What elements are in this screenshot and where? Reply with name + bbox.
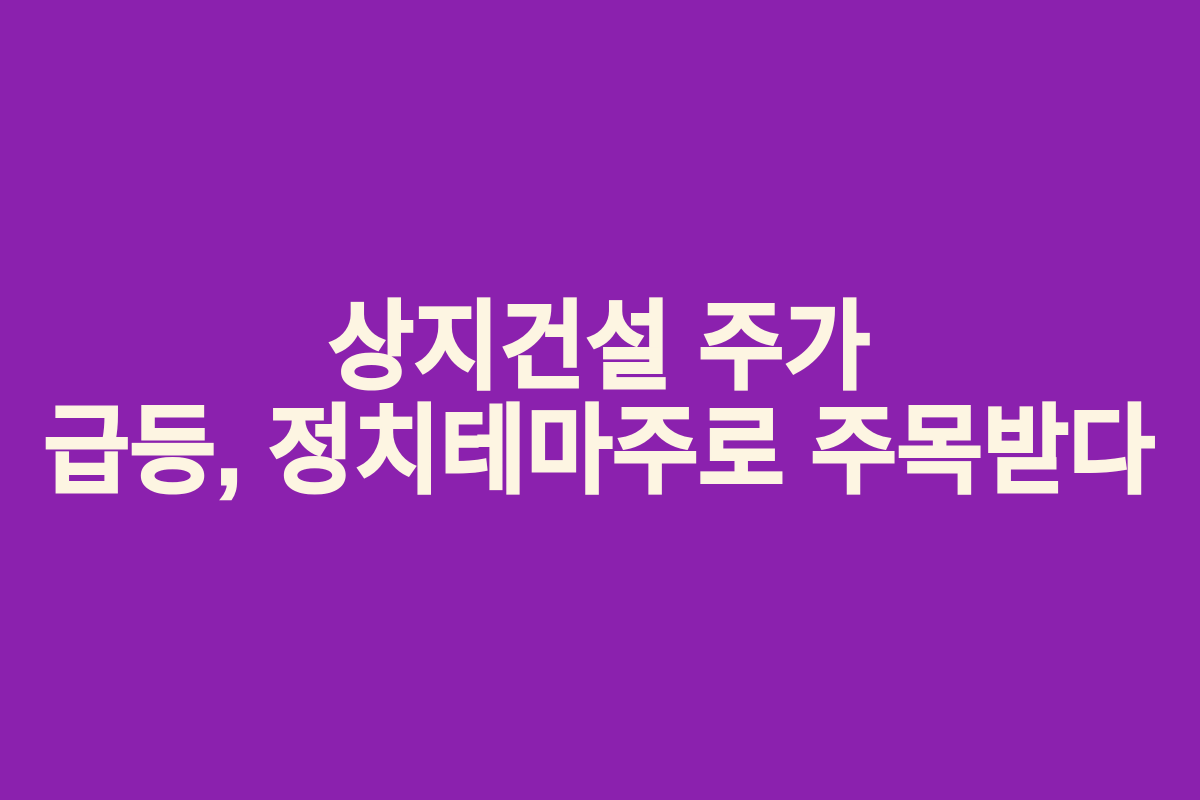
headline-block: 상지건설 주가 급등, 정치테마주로 주목받다 [0,298,1200,502]
title-card: 상지건설 주가 급등, 정치테마주로 주목받다 [0,0,1200,800]
headline-line-2: 급등, 정치테마주로 주목받다 [45,402,1156,502]
headline-line-1: 상지건설 주가 [329,298,871,398]
